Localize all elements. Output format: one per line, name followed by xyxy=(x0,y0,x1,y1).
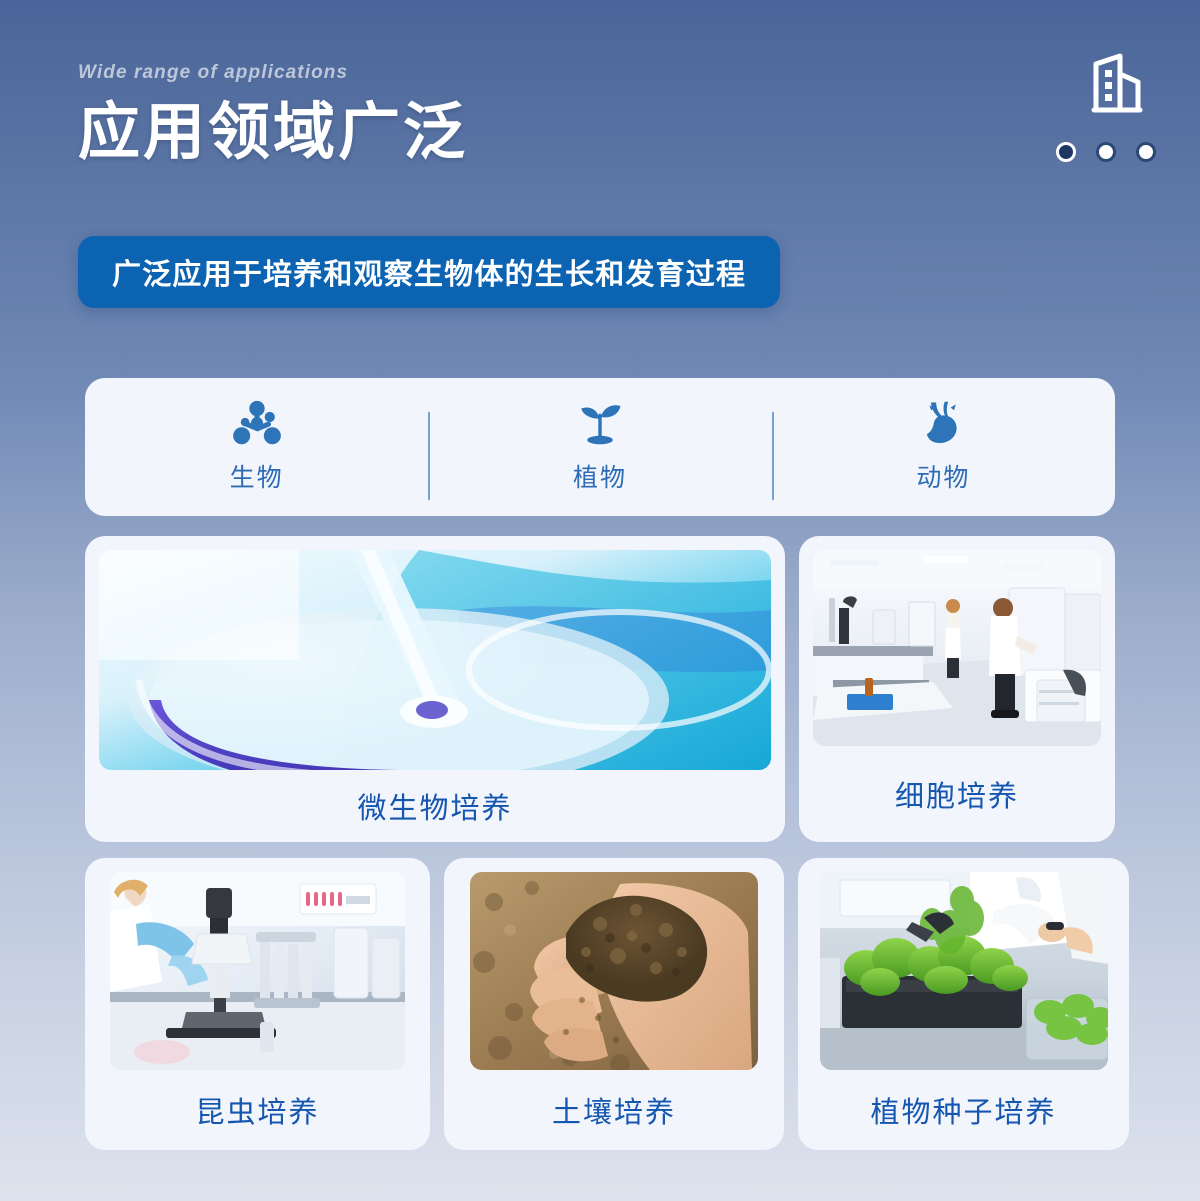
building-icon xyxy=(1080,48,1152,120)
card-cell-culture[interactable]: 细胞培养 xyxy=(799,536,1115,842)
category-label-plant: 植物 xyxy=(573,458,627,494)
laboratory-interior-photo xyxy=(813,550,1101,746)
card-label-soil-culture: 土壤培养 xyxy=(552,1070,676,1150)
pagination-dot-3[interactable] xyxy=(1136,142,1156,162)
card-label-plant-seed-culture: 植物种子培养 xyxy=(870,1070,1056,1150)
category-strip: 生物 植物 xyxy=(85,378,1115,516)
category-item-biology[interactable]: 生物 xyxy=(85,400,428,494)
banner-text: 广泛应用于培养和观察生物体的生长和发育过程 xyxy=(112,251,746,293)
deer-head-icon xyxy=(916,400,970,446)
petri-dish-pipette-photo xyxy=(99,550,771,770)
pagination-dot-1[interactable] xyxy=(1056,142,1076,162)
hand-holding-soil-photo xyxy=(470,872,758,1070)
card-insect-culture[interactable]: 昆虫培养 xyxy=(85,858,430,1150)
category-item-plant[interactable]: 植物 xyxy=(428,400,771,494)
card-label-microbe-culture: 微生物培养 xyxy=(357,770,512,842)
card-microbe-culture[interactable]: 微生物培养 xyxy=(85,536,785,842)
page-header: Wide range of applications 应用领域广泛 xyxy=(78,62,1122,167)
cards-row-bottom: 昆虫培养 xyxy=(85,858,1129,1150)
seedling-tray-photo xyxy=(820,872,1108,1070)
card-label-insect-culture: 昆虫培养 xyxy=(195,1070,319,1150)
cards-row-top: 微生物培养 xyxy=(85,536,1115,842)
highlight-banner: 广泛应用于培养和观察生物体的生长和发育过程 xyxy=(78,236,780,308)
category-item-animal[interactable]: 动物 xyxy=(772,400,1115,494)
eyebrow-text: Wide range of applications xyxy=(78,62,1122,84)
molecule-icon xyxy=(230,400,284,446)
category-label-animal: 动物 xyxy=(916,458,970,494)
card-soil-culture[interactable]: 土壤培养 xyxy=(444,858,784,1150)
seedling-icon xyxy=(573,400,627,446)
microscope-researcher-photo xyxy=(110,872,405,1070)
page-title: 应用领域广泛 xyxy=(78,100,1122,167)
card-plant-seed-culture[interactable]: 植物种子培养 xyxy=(798,858,1129,1150)
carousel-pagination[interactable] xyxy=(1056,142,1156,162)
category-label-biology: 生物 xyxy=(230,458,284,494)
card-label-cell-culture: 细胞培养 xyxy=(895,746,1019,842)
pagination-dot-2[interactable] xyxy=(1096,142,1116,162)
